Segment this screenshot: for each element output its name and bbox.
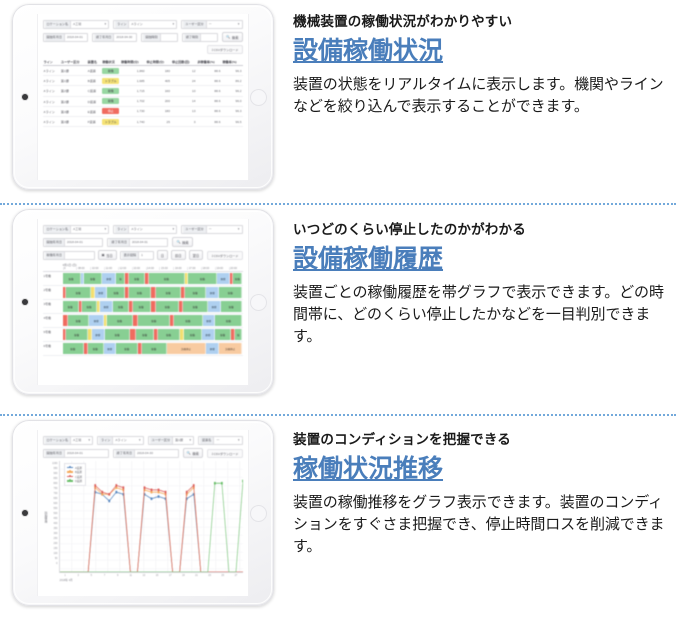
camera-icon — [22, 94, 28, 100]
cell-nonoperation-rate: 88.6 — [196, 86, 221, 96]
gantt-segment-run[interactable]: 稼働 — [129, 273, 145, 284]
gantt-segment-stop[interactable]: 休憩 — [102, 273, 116, 284]
chart-legend-item[interactable]: D装置 — [67, 479, 82, 483]
gantt-segment-stop[interactable]: 休憩 — [203, 315, 216, 326]
gantt-segment-run[interactable]: 稼働 — [188, 273, 217, 284]
filter-location-label: ロケーション名 — [45, 437, 72, 444]
status-badge: 停止 — [102, 108, 119, 114]
gantt-segment-run[interactable]: 稼働 — [113, 301, 129, 312]
gantt-row-label: 6号機 — [43, 342, 63, 355]
chart-data-point — [101, 493, 103, 496]
cell-division: 第3課 — [60, 116, 87, 126]
filter-end-time[interactable]: 終了時刻 — [182, 33, 218, 42]
filter-user-division-value: ー — [209, 225, 212, 234]
filter-location[interactable]: ロケーション名 A工場 ▾ — [43, 20, 110, 29]
filter-location-value: A工場 — [73, 436, 81, 445]
csv-download-link[interactable]: ⇩CSVダウンロード — [207, 251, 243, 260]
feature-row-2: ロケーション名 A工場 ▾ ライン Aライン ▾ — [0, 205, 676, 414]
chart-x-axis-title: 2018年 4月 — [43, 578, 243, 582]
table-row[interactable]: Aライン第1課A装置稼働1,8601801288.696.3 — [43, 66, 243, 76]
chart-data-point — [221, 482, 223, 485]
gantt-time-tick: 20:00 — [229, 267, 243, 270]
chart-data-point — [108, 493, 110, 496]
gantt-segment-run[interactable]: 稼働 — [105, 329, 131, 340]
tablet-mockup-1: ロケーション名 A工場 ▾ ライン Aライン ▾ — [0, 0, 285, 190]
feature-row-3: ロケーション名 A工場 ▾ ライン Aライン ▾ — [0, 416, 676, 617]
cell-device: E装置 — [87, 106, 102, 116]
feature-eyebrow-3: 装置のコンディションを把握できる — [293, 428, 670, 448]
cell-status: トラブル — [101, 116, 120, 126]
chart-series-line — [60, 492, 243, 572]
filter-location-label: ロケーション名 — [45, 21, 72, 28]
gantt-segment-run[interactable]: 稼働 — [185, 287, 207, 298]
tablet-device: ロケーション名 A工場 ▾ ライン Aライン ▾ — [12, 420, 274, 606]
gantt-time-tick: 10:00 — [90, 267, 104, 270]
filter-start-date-value: 2018-04-01 — [67, 449, 83, 458]
table-row[interactable]: Aライン第1課B装置トラブル1,6854052488.686.2 — [43, 76, 243, 86]
feature-copy-1: 機械装置の稼働状況がわかりやすい 設備稼働状況 装置の状態をリアルタイムに表示し… — [285, 0, 676, 118]
gantt-segment-stop[interactable]: 休憩 — [95, 287, 108, 298]
gantt-segment-stop[interactable]: 休憩 — [100, 301, 113, 312]
gantt-segment-run[interactable]: 稼働 — [149, 273, 185, 284]
feature-copy-3: 装置のコンディションを把握できる 稼働状況推移 装置の稼働推移をグラフ表示できま… — [285, 416, 676, 558]
prev-day-label: 前日 — [175, 253, 182, 258]
chevron-down-icon: ▾ — [235, 225, 240, 234]
legend-label: B装置 — [75, 470, 82, 474]
filter-location-value: A工場 — [73, 225, 81, 234]
chart-y-tick: 200 — [54, 542, 58, 545]
table-row[interactable]: Aライン第3課F装置トラブル1,74025388.696.5 — [43, 116, 243, 126]
table-row[interactable]: Aライン第2課D装置稼働1,7022001488.696.0 — [43, 96, 243, 106]
gantt-track: 稼働休憩稼働稼働稼働稼働休憩稼働 — [63, 287, 243, 298]
gantt-segment-stop[interactable]: 休憩 — [104, 343, 117, 354]
filter-end-date[interactable]: 終了年月日 2018-04-01 — [107, 238, 168, 247]
cell-nonoperation-rate: 88.6 — [196, 116, 221, 126]
gantt-segment-run[interactable]: 稼働 — [107, 287, 125, 298]
gantt-segment-stop[interactable]: 休憩 — [208, 301, 221, 312]
chart-x-tick: 3 — [72, 574, 85, 577]
cell-line: Aライン — [43, 106, 60, 116]
filter-line[interactable]: ライン Aライン ▾ — [113, 225, 177, 234]
gantt-segment-run[interactable]: 稼働 — [184, 329, 202, 340]
filter-end-date-value: 2018-04-30 — [137, 449, 153, 458]
filter-row-dates: 開始年月日 2018-04-01 終了年月日 2018-04-01 🔍 検索 — [43, 237, 243, 247]
filter-end-time-label: 終了時刻 — [184, 34, 201, 41]
filter-end-date-value: 2018-04-30 — [116, 33, 132, 42]
gantt-row: 1号機稼働稼働休憩稼稼働稼働稼働休憩稼働 — [43, 272, 243, 286]
chart-x-tick: 25 — [216, 574, 229, 577]
gantt-time-tick: 19:00 — [215, 267, 229, 270]
chart-y-tick: 750 — [54, 487, 58, 490]
filter-start-time[interactable]: 開始時刻 — [141, 33, 177, 42]
chart-x-tick: 5 — [85, 574, 98, 577]
filter-start-date-label: 開始年月日 — [45, 450, 65, 457]
filter-row-selects: ロケーション名 A工場 ▾ ライン Aライン ▾ — [43, 20, 243, 29]
chart-y-tick: 1000 — [52, 462, 57, 465]
gantt-rows: 1号機稼働稼働休憩稼稼働稼働稼働休憩稼働2号機稼働休憩稼働稼働稼働稼働休憩稼働3… — [43, 272, 243, 356]
gantt-segment-run[interactable]: 稼働 — [174, 315, 203, 326]
chart-y-tick: 800 — [54, 482, 58, 485]
gantt-time-tick: 16:00 — [173, 267, 187, 270]
gantt-segment-run[interactable]: 稼働 — [82, 301, 96, 312]
gantt-segment-run[interactable]: 稼働 — [219, 287, 242, 298]
gantt-segment-run[interactable]: 稼 — [235, 329, 242, 340]
chart-x-axis: 13579111315171921232527 — [43, 574, 243, 577]
chart-y-tick: 650 — [54, 497, 58, 500]
gantt-row: 3号機稼働稼働休憩稼働稼働稼働稼働休憩稼働 — [43, 300, 243, 314]
cell-operation-rate: 86.2 — [221, 76, 242, 86]
camera-icon — [22, 299, 28, 305]
feature-eyebrow-1: 機械装置の稼働状況がわかりやすい — [293, 10, 670, 30]
chart-legend-item[interactable]: B装置 — [67, 470, 82, 474]
chart-x-tick: 13 — [137, 574, 150, 577]
filter-line-label: ライン — [115, 226, 129, 233]
filter-end-date-label: 終了年月日 — [115, 450, 135, 457]
chart-y-tick: 850 — [54, 477, 58, 480]
filter-user-division[interactable]: ユーザー区分 ー ▾ — [181, 20, 242, 29]
chevron-down-icon: ▾ — [101, 20, 106, 29]
search-icon: 🔍 — [226, 35, 230, 39]
filter-start-date[interactable]: 開始年月日 2018-04-01 — [43, 238, 104, 247]
chart-data-point — [157, 495, 159, 498]
cell-stop-count: 10 — [171, 86, 196, 96]
gantt-segment-run[interactable]: 稼働 — [107, 315, 132, 326]
cell-division: 第2課 — [60, 96, 87, 106]
gantt-track: 稼働稼働休憩稼働稼働稼働稼働休憩稼働 — [63, 301, 243, 312]
filter-end-date[interactable]: 終了年月日 2018-04-30 — [92, 33, 137, 42]
csv-download-label: CSVダウンロード — [214, 254, 239, 258]
gantt-time-tick: 18:00 — [201, 267, 215, 270]
gantt-row-label: 4号機 — [43, 314, 63, 327]
chart-x-tick: 19 — [177, 574, 190, 577]
gantt-row: 4号機稼働休憩稼働稼働稼働休憩稼働 — [43, 314, 243, 328]
search-icon: 🔍 — [176, 240, 180, 244]
cell-division: 第1課 — [60, 76, 87, 86]
gantt-row-label: 5号機 — [43, 328, 63, 341]
filter-line-label: ライン — [115, 21, 129, 28]
gantt-segment-run[interactable]: 稼働 — [66, 329, 88, 340]
cell-operation-rate: 96.0 — [221, 96, 242, 106]
status-badge: トラブル — [102, 78, 119, 84]
chart-x-tick: 17 — [164, 574, 177, 577]
cell-stop-count: 12 — [171, 66, 196, 76]
gantt-track: 稼働稼働休憩稼稼働稼働稼働休憩稼働 — [63, 273, 243, 284]
search-button[interactable]: 🔍 検索 — [172, 237, 192, 247]
chart-legend-item[interactable]: C装置 — [67, 475, 82, 479]
filter-start-date-value: 2018-04-01 — [67, 238, 83, 247]
chart-data-point — [150, 489, 152, 492]
csv-download-link[interactable]: ⇩CSVダウンロード — [207, 45, 243, 54]
gantt-time-tick: 13:00 — [132, 267, 146, 270]
chart-y-tick: 700 — [54, 492, 58, 495]
cell-work-minutes: 1,860 — [120, 66, 145, 76]
feature-title-link-3[interactable]: 稼働状況推移 — [293, 455, 443, 483]
csv-download-label: CSVダウンロード — [214, 48, 239, 52]
chart-data-point — [143, 486, 145, 489]
gantt-segment-run[interactable]: 稼働 — [63, 343, 85, 354]
home-button-icon — [250, 89, 267, 106]
chart-series-line — [60, 488, 243, 572]
cell-device: C装置 — [87, 86, 102, 96]
feature-title-link-2[interactable]: 設備稼働履歴 — [293, 245, 443, 273]
chart-data-point — [192, 484, 194, 487]
filter-line[interactable]: ライン Aライン ▾ — [97, 436, 144, 445]
toolbar-date-label: 稼働年月日 — [45, 252, 65, 259]
gantt-segment-stop[interactable]: 休憩 — [206, 287, 219, 298]
gantt-segment-run[interactable]: 稼働 — [221, 301, 243, 312]
gantt-segment-run[interactable]: 稼働 — [63, 273, 81, 284]
cell-status: 停止 — [101, 106, 120, 116]
chart-data-point — [164, 491, 166, 494]
chart-x-tick: 7 — [98, 574, 111, 577]
cell-operation-rate: 96.3 — [221, 66, 242, 76]
toolbar-date-field[interactable]: 稼働年月日 — [43, 251, 95, 260]
filter-user-division[interactable]: ユーザー区分 ー ▾ — [181, 225, 242, 234]
cell-status: 稼働 — [101, 66, 120, 76]
feature-eyebrow-2: いつどのくらい停止したのかがわかる — [293, 218, 670, 238]
gantt-segment-run[interactable]: 稼働 — [136, 329, 154, 340]
tablet-screen-equipment-status: ロケーション名 A工場 ▾ ライン Aライン ▾ — [37, 14, 249, 180]
gantt-segment-run[interactable]: 稼働 — [215, 329, 232, 340]
search-icon: 🔍 — [187, 451, 191, 455]
chart-series-line — [60, 481, 243, 572]
chart-legend: A装置B装置C装置D装置 — [64, 463, 86, 486]
filter-start-date[interactable]: 開始年月日 2018-04-01 — [43, 33, 88, 42]
gantt-row-label: 1号機 — [43, 272, 63, 285]
cell-line: Aライン — [43, 76, 60, 86]
table-row[interactable]: Aライン第3課E装置停止1,7301801388.696.3 — [43, 106, 243, 116]
home-button-icon — [250, 294, 267, 311]
cell-status: 稼働 — [101, 86, 120, 96]
gantt-segment-run[interactable]: 稼働 — [156, 287, 181, 298]
gantt-segment-stop[interactable]: 休憩 — [89, 315, 103, 326]
gantt-segment-run[interactable]: 稼働 — [88, 343, 104, 354]
chart-x-tick: 21 — [190, 574, 203, 577]
chart-data-point — [150, 491, 152, 494]
cell-stop-minutes: 200 — [146, 96, 171, 106]
calendar-icon: ▣ — [102, 253, 105, 257]
gantt-segment-run[interactable]: 稼働 — [116, 343, 138, 354]
gantt-segment-run[interactable]: 稼働 — [138, 315, 170, 326]
table-column-header: ユーザー区分 — [60, 57, 87, 66]
filter-device-name-label: 装置名 — [200, 437, 214, 444]
today-button[interactable]: ▣ 当日 — [98, 250, 117, 260]
gantt-time-tick: 08:00 — [76, 267, 90, 270]
cell-stop-count: 3 — [171, 116, 196, 126]
gantt-segment-run[interactable]: 稼 — [116, 273, 125, 284]
chart-y-tick: 450 — [54, 517, 58, 520]
filter-end-date-label: 終了年月日 — [109, 239, 129, 246]
gantt-segment-stop[interactable]: 休憩 — [217, 273, 230, 284]
gantt-row: 2号機稼働休憩稼働稼働稼働稼働休憩稼働 — [43, 286, 243, 300]
tablet-mockup-2: ロケーション名 A工場 ▾ ライン Aライン ▾ — [0, 205, 285, 395]
gantt-segment-run[interactable]: 稼働 — [84, 273, 102, 284]
gantt-segment-run[interactable]: 稼働 — [133, 301, 151, 312]
chevron-down-icon: ▾ — [235, 20, 240, 29]
filter-start-date-label: 開始年月日 — [45, 239, 65, 246]
cell-stop-count: 13 — [171, 106, 196, 116]
chart-y-tick: 900 — [54, 472, 58, 475]
filter-line-value: Aライン — [115, 436, 126, 445]
csv-download-link[interactable]: ⇩CSVダウンロード — [207, 449, 243, 458]
chart-data-point — [122, 486, 124, 489]
filter-end-date[interactable]: 終了年月日 2018-04-30 — [113, 449, 179, 458]
gantt-track: 稼働休憩稼働稼働稼働休憩稼働 — [63, 315, 243, 326]
cell-nonoperation-rate: 88.6 — [196, 76, 221, 86]
tablet-screen-operation-history: ロケーション名 A工場 ▾ ライン Aライン ▾ — [37, 219, 249, 385]
tablet-device: ロケーション名 A工場 ▾ ライン Aライン ▾ — [12, 4, 274, 190]
gantt-time-tick: 0 — [63, 267, 77, 270]
tablet-screen-operation-trend: ロケーション名 A工場 ▾ ライン Aライン ▾ — [37, 430, 249, 596]
gantt-segment-plan[interactable]: 計画停止 — [167, 343, 207, 354]
status-badge: 稼働 — [102, 88, 119, 94]
chart-y-axis-title: 稼働時間 — [43, 461, 49, 573]
gantt-segment-run[interactable]: 稼働 — [142, 343, 167, 354]
filter-line[interactable]: ライン Aライン ▾ — [113, 20, 177, 29]
table-row[interactable]: Aライン第2課C装置稼働1,7151601088.696.2 — [43, 86, 243, 96]
legend-color-swatch — [67, 480, 73, 482]
filter-row-dates: 開始年月日 2018-04-01 終了年月日 2018-04-30 開始時刻 — [43, 32, 243, 42]
chart-y-tick: 300 — [54, 532, 58, 535]
operation-trend-chart: 稼働時間 10009509008508007507006506005505004… — [43, 461, 243, 573]
csv-row: ⇩CSVダウンロード — [43, 45, 243, 54]
cell-stop-minutes: 180 — [146, 66, 171, 76]
gantt-segment-run[interactable]: 稼働 — [129, 287, 151, 298]
gantt-segment-stop[interactable]: 休憩 — [92, 329, 105, 340]
cell-work-minutes: 1,685 — [120, 76, 145, 86]
search-button[interactable]: 🔍 検索 — [222, 32, 242, 42]
gantt-segment-run[interactable]: 稼働 — [233, 273, 242, 284]
chevron-down-icon: ▾ — [169, 20, 174, 29]
filter-user-division[interactable]: ユーザー区分 第1課 ▾ — [148, 436, 195, 445]
chart-data-point — [115, 484, 117, 487]
gantt-toolbar: 稼働年月日 ▣ 当日 表示間隔 1 — [43, 250, 243, 260]
chart-y-tick: 0 — [56, 562, 57, 565]
chart-y-tick: 550 — [54, 507, 58, 510]
chart-x-tick: 9 — [111, 574, 124, 577]
legend-color-swatch — [67, 476, 73, 478]
filter-line-value: Aライン — [131, 20, 142, 29]
chevron-down-icon: ▾ — [101, 225, 106, 234]
feature-body-1: 装置の状態をリアルタイムに表示します。機関やラインなどを絞り込んで表示することが… — [293, 74, 670, 118]
next-day-button[interactable]: 翌日 — [189, 250, 204, 260]
filter-device-name-value: ー — [216, 436, 219, 445]
cell-device: B装置 — [87, 76, 102, 86]
filter-location[interactable]: ロケーション名 A工場 ▾ — [43, 436, 94, 445]
filter-user-division-value: 第1課 — [175, 436, 183, 445]
status-badge: 稼働 — [102, 98, 119, 104]
interval-unit-label: 日 — [161, 253, 164, 258]
gantt-time-tick: 14:00 — [146, 267, 160, 270]
search-button-label: 検索 — [192, 451, 199, 456]
cell-work-minutes: 1,730 — [120, 106, 145, 116]
today-button-label: 当日 — [106, 253, 113, 258]
cell-work-minutes: 1,715 — [120, 86, 145, 96]
cell-stop-count: 14 — [171, 96, 196, 106]
gantt-segment-run[interactable]: 稼働 — [63, 301, 79, 312]
chart-data-point — [101, 491, 103, 494]
filter-location-label: ロケーション名 — [45, 226, 72, 233]
tablet-mockup-3: ロケーション名 A工場 ▾ ライン Aライン ▾ — [0, 416, 285, 606]
cell-stop-minutes: 160 — [146, 86, 171, 96]
next-day-label: 翌日 — [193, 253, 200, 258]
chart-legend-item[interactable]: A装置 — [67, 466, 82, 470]
chart-y-tick: 400 — [54, 522, 58, 525]
legend-label: A装置 — [75, 466, 82, 470]
table-column-header: ライン — [43, 57, 60, 66]
chart-data-point — [213, 482, 215, 485]
filter-device-name[interactable]: 装置名 ー ▾ — [198, 436, 242, 445]
cell-nonoperation-rate: 88.6 — [196, 106, 221, 116]
gantt-segment-run[interactable]: 稼働 — [68, 315, 90, 326]
gantt-segment-run[interactable]: 稼働 — [215, 315, 242, 326]
filter-user-division-label: ユーザー区分 — [183, 226, 207, 233]
chart-x-tick: 11 — [124, 574, 137, 577]
filter-row-selects: ロケーション名 A工場 ▾ ライン Aライン ▾ — [43, 436, 243, 445]
feature-body-2: 装置ごとの稼働履歴を帯グラフで表示できます。どの時間帯に、どのくらい停止したかな… — [293, 282, 670, 348]
legend-color-swatch — [67, 471, 73, 473]
cell-line: Aライン — [43, 66, 60, 76]
filter-line-value: Aライン — [131, 225, 142, 234]
chart-y-tick: 100 — [54, 552, 58, 555]
gantt-row-label: 2号機 — [43, 286, 63, 299]
gantt-segment-plan[interactable]: 計画停止 — [219, 343, 242, 354]
cell-device: F装置 — [87, 116, 102, 126]
chart-x-tick: 27 — [229, 574, 242, 577]
filter-location[interactable]: ロケーション名 A工場 ▾ — [43, 225, 110, 234]
chart-x-tick: 15 — [150, 574, 163, 577]
chevron-down-icon: ▾ — [169, 225, 174, 234]
search-button[interactable]: 🔍 検索 — [183, 448, 203, 458]
legend-color-swatch — [67, 467, 73, 469]
interval-field[interactable]: 表示間隔 1 — [120, 251, 154, 260]
chevron-down-icon: ▾ — [85, 436, 90, 445]
gantt-segment-stop[interactable]: 休憩 — [206, 343, 219, 354]
cell-stop-minutes: 25 — [146, 116, 171, 126]
camera-icon — [22, 510, 28, 516]
gantt-segment-run[interactable]: 稼働 — [158, 329, 180, 340]
status-badge: 稼働 — [102, 68, 119, 74]
table-column-header: 稼働率(%) — [221, 57, 242, 66]
cell-work-minutes: 1,702 — [120, 96, 145, 106]
gantt-segment-stop[interactable]: 休憩 — [202, 329, 215, 340]
gantt-segment-run[interactable]: 稼働 — [183, 301, 208, 312]
cell-line: Aライン — [43, 116, 60, 126]
filter-start-date-value: 2018-04-01 — [67, 33, 83, 42]
status-badge: トラブル — [102, 119, 119, 125]
feature-title-link-1[interactable]: 設備稼働状況 — [293, 37, 443, 65]
cell-nonoperation-rate: 88.6 — [196, 66, 221, 76]
cell-operation-rate: 96.5 — [221, 116, 242, 126]
chart-x-tick: 23 — [203, 574, 216, 577]
gantt-segment-run[interactable]: 稼働 — [66, 287, 91, 298]
filter-user-division-label: ユーザー区分 — [183, 21, 207, 28]
filter-location-value: A工場 — [73, 20, 81, 29]
feature-body-3: 装置の稼働推移をグラフ表示できます。装置のコンディションをすぐさま把握でき、停止… — [293, 492, 670, 558]
chart-plot-area: A装置B装置C装置D装置 — [59, 461, 243, 573]
chart-y-axis: 1000950900850800750700650600550500450400… — [49, 461, 59, 573]
cell-device: A装置 — [87, 66, 102, 76]
filter-start-date[interactable]: 開始年月日 2018-04-01 — [43, 449, 109, 458]
chart-data-point — [94, 484, 96, 487]
cell-division: 第1課 — [60, 66, 87, 76]
table-column-header: 装置名 — [87, 57, 102, 66]
prev-day-button[interactable]: 前日 — [171, 250, 186, 260]
gantt-segment-run[interactable]: 稼働 — [156, 301, 179, 312]
chart-y-tick: 250 — [54, 537, 58, 540]
cell-nonoperation-rate: 88.6 — [196, 96, 221, 106]
chart-data-point — [108, 500, 110, 503]
